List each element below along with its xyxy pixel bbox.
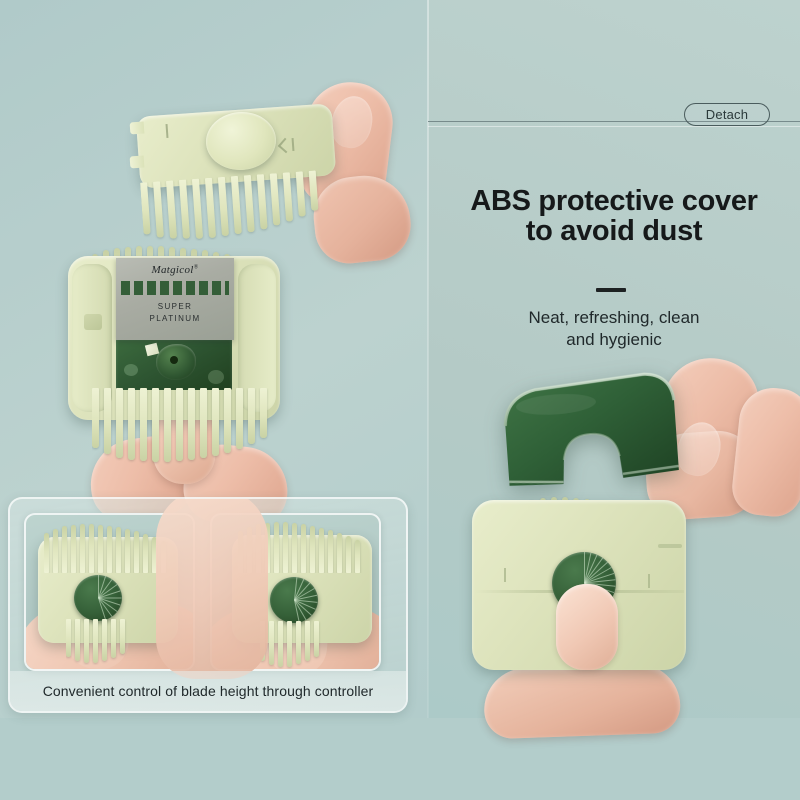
headline-line-2: to avoid dust xyxy=(432,216,796,246)
photo-clipper-head-with-cover-in-hand xyxy=(118,88,438,258)
blade-line1-text: SUPER xyxy=(116,302,234,311)
inset-background-hand xyxy=(156,497,268,679)
inset-caption-bar: Convenient control of blade height throu… xyxy=(10,671,406,711)
background-bottom-strip xyxy=(0,718,800,800)
header-rule-highlight xyxy=(428,126,800,127)
razor-blade-label: Matgicol® SUPER PLATINUM xyxy=(116,258,234,340)
photo-clipper-head-blade-exposed: Matgicol® SUPER PLATINUM xyxy=(62,242,294,504)
subtitle: Neat, refreshing, clean and hygienic xyxy=(440,307,788,351)
inset-caption-text: Convenient control of blade height throu… xyxy=(43,683,374,699)
blade-brand-text: Matgicol® xyxy=(116,264,234,276)
clipper-left-notch xyxy=(84,314,102,330)
cover-shape-svg xyxy=(494,370,687,495)
inset-comb-teeth xyxy=(44,521,170,573)
inset-height-dial[interactable] xyxy=(74,575,122,621)
body-tick-right xyxy=(648,574,650,588)
inset-lower-teeth xyxy=(260,621,322,669)
clipper-side-tab-lower xyxy=(130,156,145,169)
dial-ridges xyxy=(74,575,122,621)
blade-etched-pattern xyxy=(121,281,230,295)
product-image-canvas: Matgicol® SUPER PLATINUM xyxy=(0,0,800,800)
blade-line2-text: PLATINUM xyxy=(116,314,234,323)
body-edge-notch xyxy=(658,544,682,548)
headline-separator-dash xyxy=(596,288,626,292)
dial-hand-palm xyxy=(483,663,681,740)
inset-lower-teeth xyxy=(66,619,128,665)
comb-teeth-row xyxy=(140,169,334,244)
detach-badge-label: Detach xyxy=(706,107,748,122)
headline-line-1: ABS protective cover xyxy=(470,185,757,217)
green-abs-cover xyxy=(494,370,687,495)
clipper-side-tab-upper xyxy=(130,122,145,135)
thumb-over-dial xyxy=(556,584,618,670)
blade-plate-dot-left xyxy=(124,364,138,376)
blade-plate-dot-right xyxy=(208,370,224,384)
comb-teeth-row-bottom xyxy=(92,388,272,468)
subtitle-line-1: Neat, refreshing, clean xyxy=(528,308,699,327)
inset-panel-group: Convenient control of blade height throu… xyxy=(8,497,408,713)
body-tick-left xyxy=(504,568,506,582)
photo-clipper-head-with-dial xyxy=(452,490,712,720)
inset-height-dial[interactable] xyxy=(270,577,318,623)
dial-ridges xyxy=(270,577,318,623)
subtitle-line-2: and hygienic xyxy=(566,330,661,349)
blade-screw-head xyxy=(170,356,178,364)
detach-badge[interactable]: Detach xyxy=(684,103,770,126)
headline: ABS protective cover to avoid dust xyxy=(432,186,796,247)
